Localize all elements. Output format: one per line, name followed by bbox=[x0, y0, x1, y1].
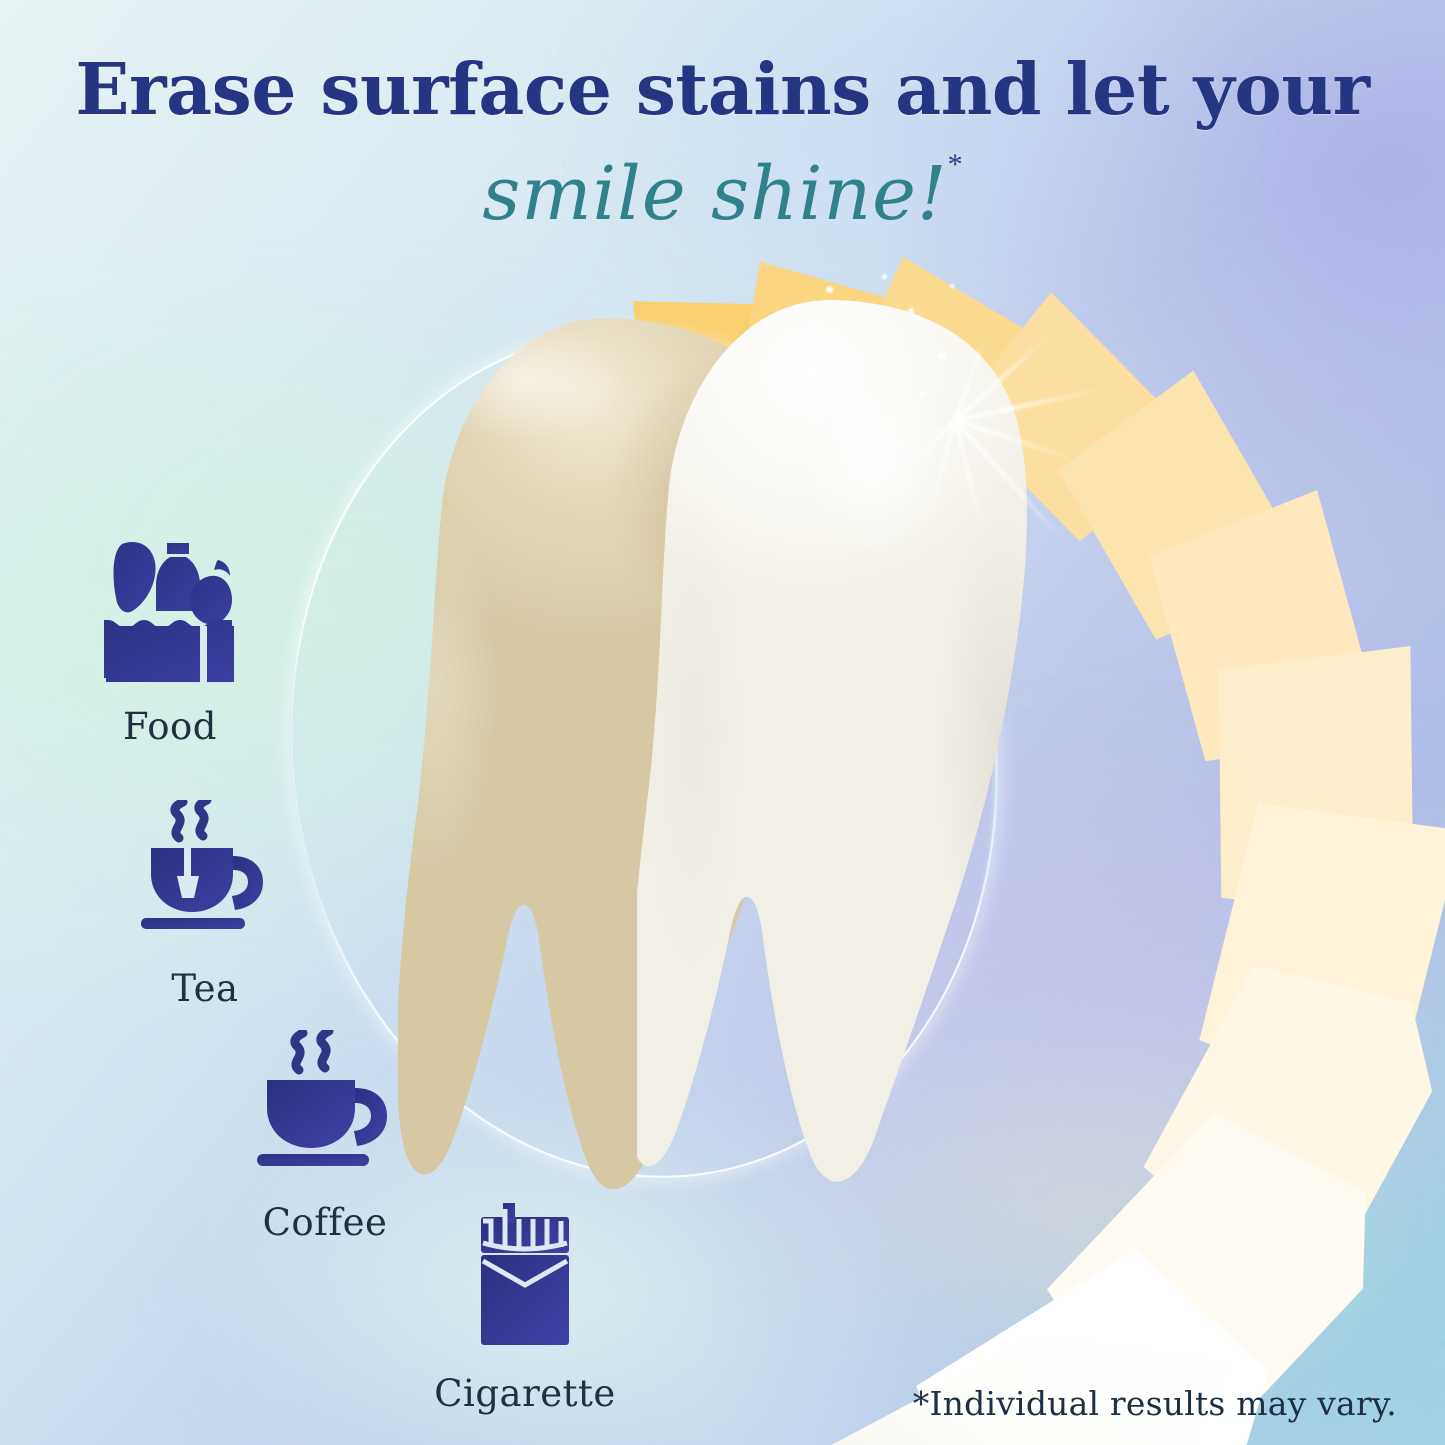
sparkle-dot bbox=[882, 274, 887, 279]
sparkle-dot bbox=[826, 286, 833, 293]
stain-source-tea: Tea bbox=[95, 800, 315, 1010]
poster-canvas: Erase surface stains and let your smile … bbox=[0, 0, 1445, 1445]
stain-source-label: Cigarette bbox=[390, 1372, 660, 1415]
sparkle-dot bbox=[950, 284, 954, 288]
page-title: Erase surface stains and let your bbox=[0, 52, 1445, 127]
subtitle-text: smile shine! bbox=[482, 151, 947, 237]
grocery-bag-icon bbox=[60, 538, 280, 691]
stain-source-label: Food bbox=[60, 705, 280, 748]
teacup-icon bbox=[95, 800, 315, 953]
whitened-tooth bbox=[637, 300, 1037, 1200]
asterisk-marker: * bbox=[948, 148, 963, 181]
page-subtitle: smile shine!* bbox=[0, 150, 1445, 231]
stain-source-food: Food bbox=[60, 538, 280, 748]
coffee-cup-icon bbox=[205, 1030, 445, 1187]
stain-source-cigarette: Cigarette bbox=[390, 1203, 660, 1415]
stain-source-label: Tea bbox=[95, 967, 315, 1010]
cigarette-pack-icon bbox=[390, 1203, 660, 1358]
footnote-disclaimer: *Individual results may vary. bbox=[913, 1384, 1397, 1423]
